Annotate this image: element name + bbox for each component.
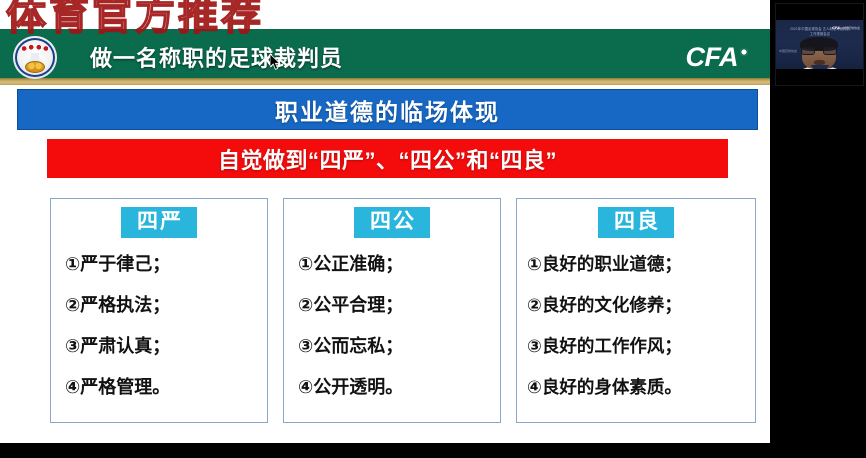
slide-red-banner-text: 自觉做到“四严”、“四公”和“四良” (218, 143, 557, 175)
slide-columns: 四严 ①严于律己； ②严格执法； ③严肃认真； ④严格管理。 四公 ①公正准确；… (50, 198, 756, 423)
list-item: ①严于律己； (65, 244, 261, 285)
column-panel-siyan: 四严 ①严于律己； ②严格执法； ③严肃认真； ④严格管理。 (50, 198, 268, 423)
video-badge-label: CFA (832, 25, 840, 30)
glasses-lens-right (823, 47, 837, 55)
cfa-wordmark-text: CFA (686, 42, 739, 72)
slide-red-banner: 自觉做到“四严”、“四公”和“四良” (47, 139, 728, 178)
cfa-crest-emblem-icon (13, 36, 57, 79)
presenter-mouth (814, 60, 825, 65)
list-item: ④公开透明。 (298, 367, 494, 408)
column-title: 四公 (354, 207, 430, 238)
list-item: ①公正准确； (298, 244, 494, 285)
presenter-glasses (801, 47, 837, 55)
video-letterbox-top (776, 4, 863, 20)
column-item-list: ①良好的职业道德； ②良好的文化修养； ③良好的工作作风； ④良好的身体素质。 (517, 244, 755, 408)
column-item-list: ①严于律己； ②严格执法； ③严肃认真； ④严格管理。 (51, 244, 267, 408)
presentation-slide: 做一名称职的足球裁判员 CFA 职业道德的临场体现 自觉做到“四严”、“四公”和… (0, 0, 770, 443)
slide-header-title: 做一名称职的足球裁判员 (90, 40, 650, 78)
screen-root: 做一名称职的足球裁判员 CFA 职业道德的临场体现 自觉做到“四严”、“四公”和… (0, 0, 866, 458)
slide-blue-banner-text: 职业道德的临场体现 (275, 93, 500, 127)
mouse-cursor-icon (270, 54, 281, 70)
video-scene: 2021年中国足球协会 五人制足球裁判员工作视频会议 CFA 中国足球协会 中国… (776, 20, 863, 71)
list-item: ③公而忘私； (298, 326, 494, 367)
presenter-webcam-video[interactable]: 2021年中国足球协会 五人制足球裁判员工作视频会议 CFA 中国足球协会 中国… (775, 3, 864, 86)
cfa-wordmark: CFA (686, 40, 749, 74)
list-item: ④良好的身体素质。 (527, 367, 749, 408)
video-ticker-text: 中国足球协会 (779, 49, 797, 53)
column-title: 四良 (598, 207, 674, 238)
list-item: ①良好的职业道德； (527, 244, 749, 285)
list-item: ②良好的文化修养； (527, 285, 749, 326)
list-item: ③良好的工作作风； (527, 326, 749, 367)
column-item-list: ①公正准确； ②公平合理； ③公而忘私； ④公开透明。 (284, 244, 500, 408)
video-cfa-badge: CFA 中国足球协会 (832, 25, 860, 30)
list-item: ④严格管理。 (65, 367, 261, 408)
crest-ball (25, 61, 45, 73)
soccer-ball-icon (740, 48, 748, 56)
video-badge-sub: 中国足球协会 (842, 26, 860, 30)
glasses-bridge (815, 50, 823, 51)
glasses-lens-left (801, 47, 815, 55)
list-item: ②公平合理； (298, 285, 494, 326)
column-panel-sigong: 四公 ①公正准确； ②公平合理； ③公而忘私； ④公开透明。 (283, 198, 501, 423)
column-panel-siliang: 四良 ①良好的职业道德； ②良好的文化修养； ③良好的工作作风； ④良好的身体素… (516, 198, 756, 423)
slide-blue-banner: 职业道德的临场体现 (17, 89, 758, 130)
column-title: 四严 (121, 207, 197, 238)
list-item: ③严肃认真； (65, 326, 261, 367)
list-item: ②严格执法； (65, 285, 261, 326)
video-letterbox-bottom (776, 69, 863, 85)
slide-header-accent-strip (0, 78, 770, 85)
